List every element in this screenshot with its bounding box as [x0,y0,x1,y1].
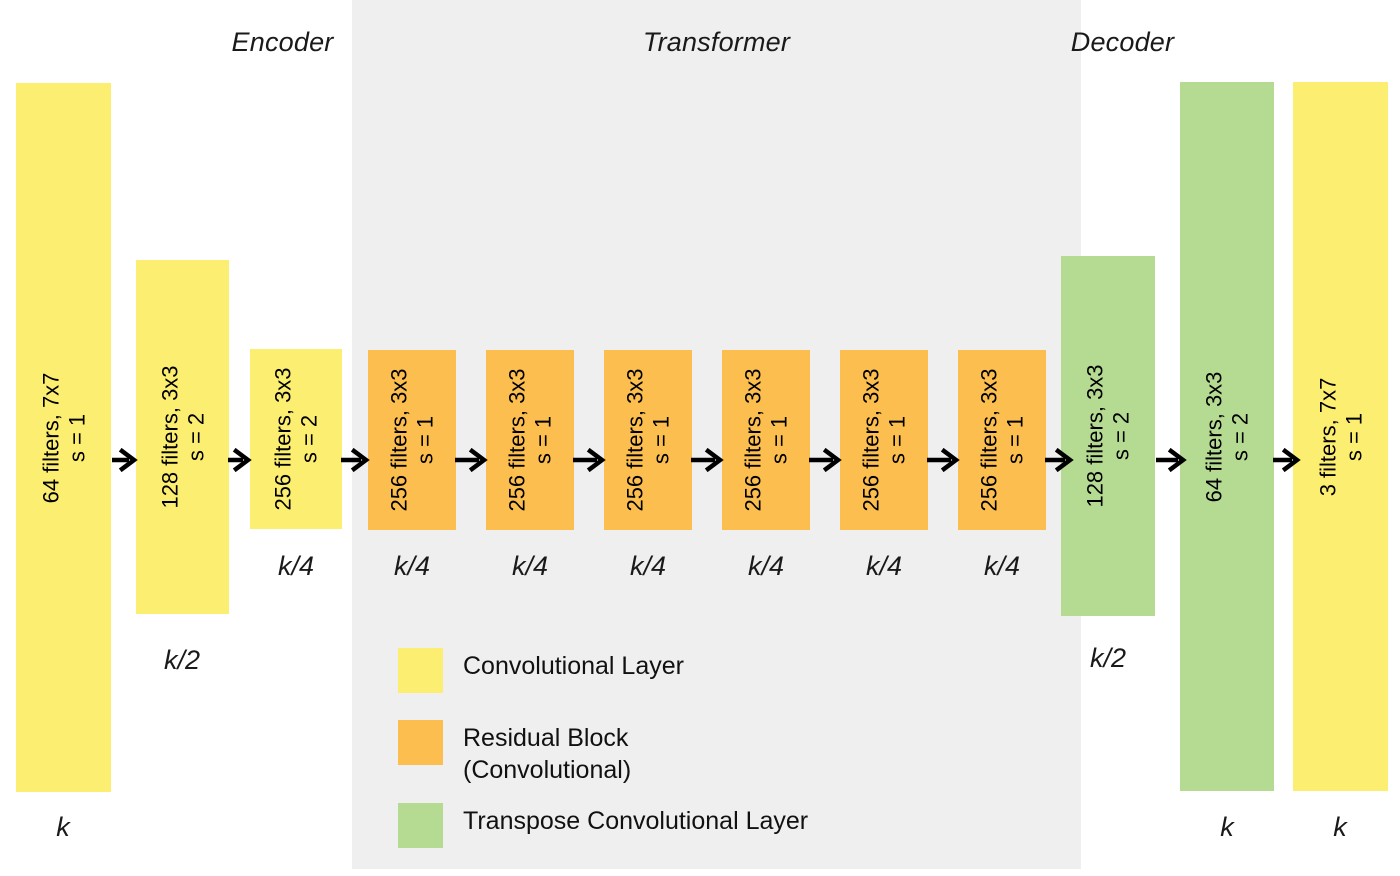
block-res2-label: 256 filters, 3x3 s = 1 [504,368,555,511]
layer-block-res4[interactable]: 256 filters, 3x3 s = 1 [722,350,810,530]
arrow-right-icon-6 [691,449,723,471]
block-conv2-stride: s = 2 [183,365,209,508]
legend-label-conv: Convolutional Layer [463,648,684,682]
block-res5-label: 256 filters, 3x3 s = 1 [858,368,909,511]
block-res3-stride: s = 1 [648,368,674,511]
size-label-deconv2: k [1220,812,1234,843]
legend-label-residual: Residual Block (Convolutional) [463,720,631,786]
block-conv-out-filters: 3 filters, 7x7 [1315,377,1341,496]
size-label-conv2: k/2 [164,645,200,676]
block-conv3-stride: s = 2 [296,367,322,510]
block-res4-filters: 256 filters, 3x3 [740,368,766,511]
block-res6-filters: 256 filters, 3x3 [976,368,1002,511]
block-deconv1-filters: 128 filters, 3x3 [1082,364,1108,507]
layer-block-res3[interactable]: 256 filters, 3x3 s = 1 [604,350,692,530]
size-label-res1: k/4 [394,551,430,582]
block-conv1-filters: 64 filters, 7x7 [38,372,64,503]
block-res4-label: 256 filters, 3x3 s = 1 [740,368,791,511]
arrow-right-icon-7 [809,449,841,471]
legend-item-conv: Convolutional Layer [398,648,684,693]
legend-label-transpose: Transpose Convolutional Layer [463,803,808,837]
block-conv-out-stride: s = 1 [1341,377,1367,496]
block-conv1-stride: s = 1 [64,372,90,503]
size-label-deconv1: k/2 [1090,643,1126,674]
layer-block-res2[interactable]: 256 filters, 3x3 s = 1 [486,350,574,530]
section-title-transformer: Transformer [604,27,829,58]
block-res6-label: 256 filters, 3x3 s = 1 [976,368,1027,511]
block-res3-label: 256 filters, 3x3 s = 1 [622,368,673,511]
block-res3-filters: 256 filters, 3x3 [622,368,648,511]
arrow-right-icon-2 [228,449,251,471]
block-res2-filters: 256 filters, 3x3 [504,368,530,511]
block-deconv1-label: 128 filters, 3x3 s = 2 [1082,364,1133,507]
block-conv1-label: 64 filters, 7x7 s = 1 [38,372,89,503]
layer-block-res5[interactable]: 256 filters, 3x3 s = 1 [840,350,928,530]
layer-block-res1[interactable]: 256 filters, 3x3 s = 1 [368,350,456,530]
block-res1-filters: 256 filters, 3x3 [386,368,412,511]
layer-block-deconv1[interactable]: 128 filters, 3x3 s = 2 [1061,256,1155,616]
size-label-conv-out: k [1333,812,1347,843]
size-label-res2: k/4 [512,551,548,582]
block-conv2-filters: 128 filters, 3x3 [157,365,183,508]
block-res5-filters: 256 filters, 3x3 [858,368,884,511]
legend-swatch-conv [398,648,443,693]
size-label-conv1: k [56,812,70,843]
arrow-right-icon-1 [112,449,137,471]
size-label-res6: k/4 [984,551,1020,582]
layer-block-deconv2[interactable]: 64 filters, 3x3 s = 2 [1180,82,1274,791]
block-res5-stride: s = 1 [884,368,910,511]
arrow-right-icon-8 [927,449,959,471]
block-res2-stride: s = 1 [530,368,556,511]
architecture-diagram: Encoder Transformer Decoder 64 filters, … [0,0,1400,876]
layer-block-conv3[interactable]: 256 filters, 3x3 s = 2 [250,349,342,529]
block-conv2-label: 128 filters, 3x3 s = 2 [157,365,208,508]
arrow-right-icon-4 [455,449,487,471]
arrow-right-icon-11 [1273,449,1300,471]
legend-item-residual: Residual Block (Convolutional) [398,720,631,786]
legend-swatch-residual [398,720,443,765]
section-title-encoder: Encoder [170,27,395,58]
block-res6-stride: s = 1 [1002,368,1028,511]
arrow-right-icon-5 [573,449,605,471]
block-conv3-label: 256 filters, 3x3 s = 2 [270,367,321,510]
section-title-decoder: Decoder [1010,27,1235,58]
legend-swatch-transpose [398,803,443,848]
size-label-res3: k/4 [630,551,666,582]
arrow-right-icon-10 [1156,449,1186,471]
size-label-res4: k/4 [748,551,784,582]
arrow-right-icon-9 [1045,449,1073,471]
block-res4-stride: s = 1 [766,368,792,511]
legend: Convolutional Layer Residual Block (Conv… [398,648,918,848]
block-deconv2-filters: 64 filters, 3x3 [1201,371,1227,502]
block-deconv1-stride: s = 2 [1108,364,1134,507]
layer-block-conv1[interactable]: 64 filters, 7x7 s = 1 [16,83,111,792]
block-conv3-filters: 256 filters, 3x3 [270,367,296,510]
arrow-right-icon-3 [341,449,369,471]
layer-block-res6[interactable]: 256 filters, 3x3 s = 1 [958,350,1046,530]
layer-block-conv-out[interactable]: 3 filters, 7x7 s = 1 [1293,82,1388,791]
block-res1-stride: s = 1 [412,368,438,511]
block-deconv2-label: 64 filters, 3x3 s = 2 [1201,371,1252,502]
legend-item-transpose: Transpose Convolutional Layer [398,803,808,848]
block-conv-out-label: 3 filters, 7x7 s = 1 [1315,377,1366,496]
layer-block-conv2[interactable]: 128 filters, 3x3 s = 2 [136,260,229,614]
block-deconv2-stride: s = 2 [1227,371,1253,502]
size-label-conv3: k/4 [278,551,314,582]
size-label-res5: k/4 [866,551,902,582]
block-res1-label: 256 filters, 3x3 s = 1 [386,368,437,511]
